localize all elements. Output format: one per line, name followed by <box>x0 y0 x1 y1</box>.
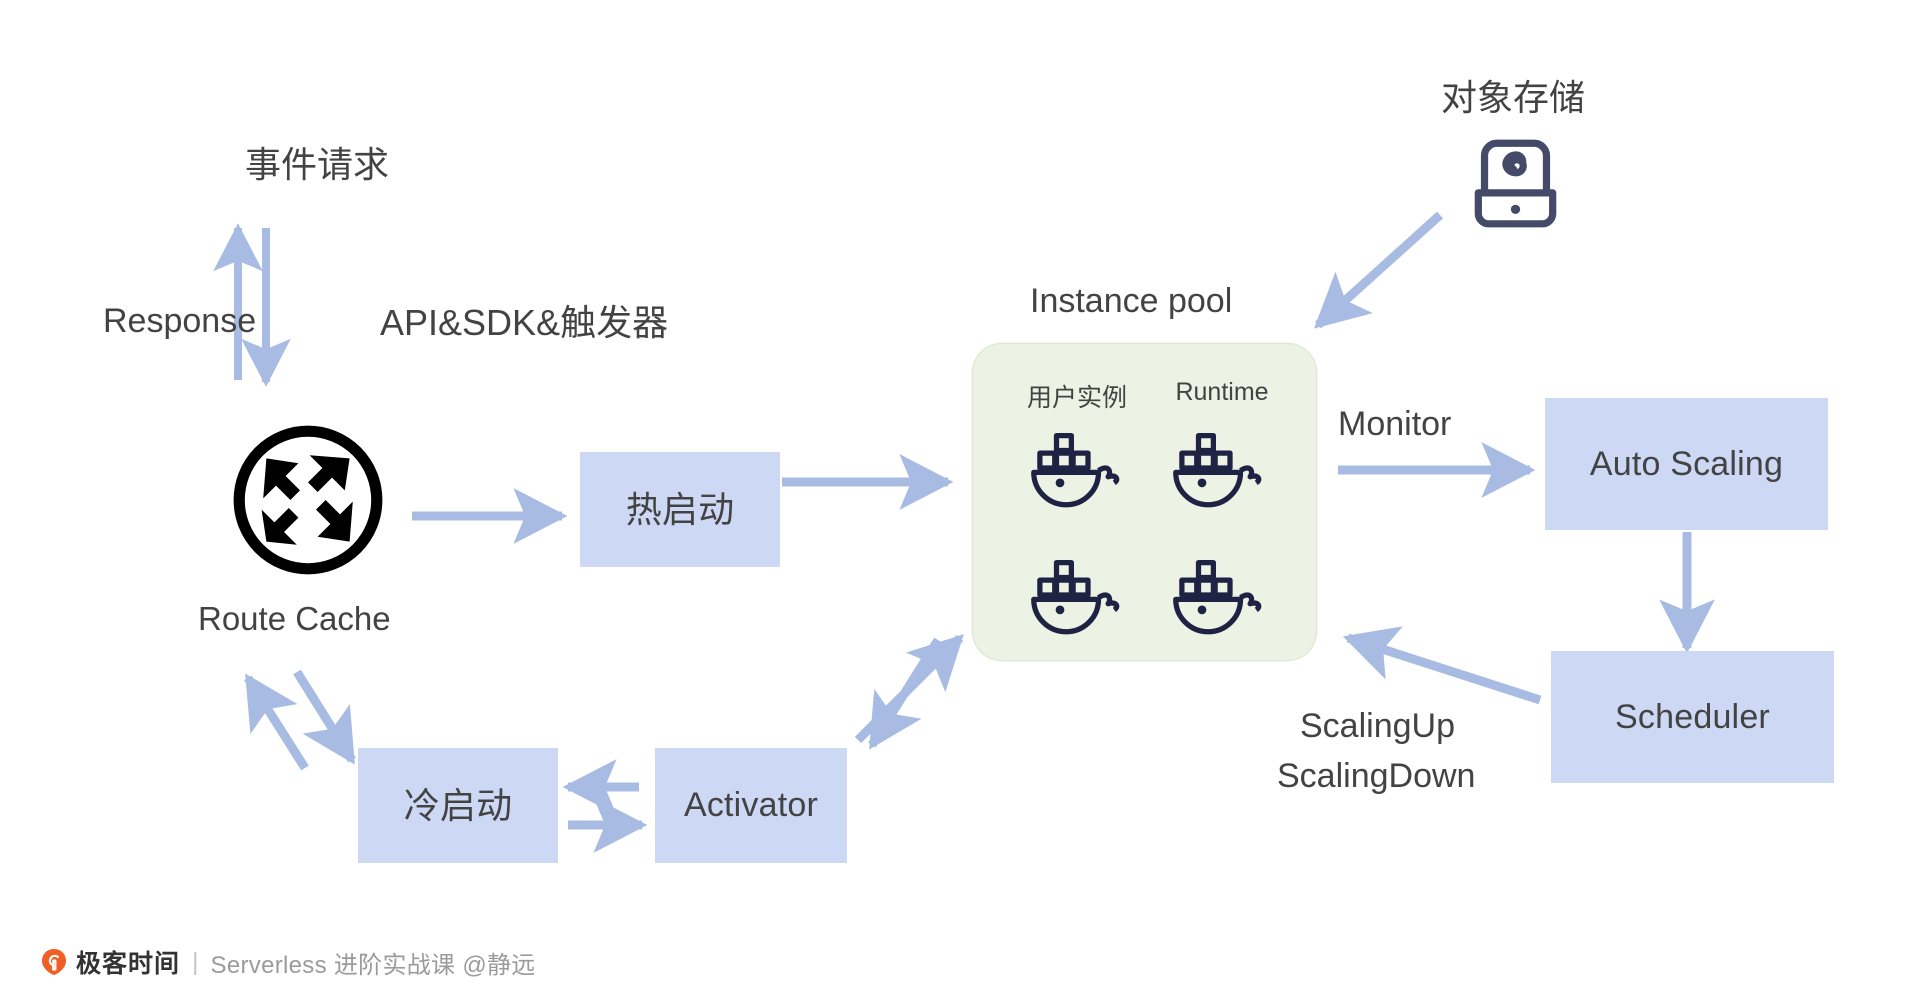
four-arrows-outward-circle-icon <box>228 420 388 580</box>
footer-course: Serverless 进阶实战课 @静远 <box>211 945 536 980</box>
activator-box[interactable]: Activator <box>655 748 847 863</box>
label-scaling-down: ScalingDown <box>1277 755 1475 798</box>
docker-whale-glyph <box>1025 428 1130 508</box>
label-monitor: Monitor <box>1338 403 1451 446</box>
route-cache-label: Route Cache <box>198 600 391 638</box>
arrow-pool-to-activator <box>872 640 938 745</box>
route-cache-icon <box>228 420 388 580</box>
auto-scaling-box[interactable]: Auto Scaling <box>1545 398 1828 530</box>
geekbang-logo-icon <box>40 948 68 976</box>
label-object-storage: 对象存储 <box>1441 75 1585 120</box>
warm-start-box[interactable]: 热启动 <box>580 452 780 567</box>
label-event-request: 事件请求 <box>245 142 389 187</box>
footer-watermark: 极客时间 | Serverless 进阶实战课 @静远 <box>40 944 536 980</box>
object-storage-drive-glyph <box>1463 135 1568 230</box>
instance-pool-column-label-0: 用户实例 <box>1017 378 1137 414</box>
arrow-coldstart-to-routecache <box>248 678 305 768</box>
docker-whale-glyph <box>1167 555 1272 635</box>
arrow-scheduler-to-pool <box>1348 638 1540 700</box>
geekbang-logo-glyph <box>40 948 68 976</box>
object-storage-icon <box>1463 135 1568 230</box>
instance-pool-column-label-1: Runtime <box>1162 378 1282 407</box>
arrow-activator-to-pool <box>858 638 960 740</box>
docker-whale-icon <box>1167 555 1272 635</box>
diagram-canvas: 事件请求 Response API&SDK&触发器 Route Cache 热启… <box>0 0 1920 1006</box>
label-scaling-up: ScalingUp <box>1300 705 1455 748</box>
docker-whale-icon <box>1167 428 1272 508</box>
footer-brand: 极客时间 <box>76 944 180 980</box>
docker-whale-icon <box>1025 428 1130 508</box>
label-api-sdk-trigger: API&SDK&触发器 <box>380 300 668 345</box>
scheduler-box[interactable]: Scheduler <box>1551 651 1834 783</box>
label-response: Response <box>103 300 256 343</box>
cold-start-box[interactable]: 冷启动 <box>358 748 558 863</box>
docker-whale-glyph <box>1025 555 1130 635</box>
arrow-routecache-to-coldstart <box>297 672 352 760</box>
arrow-objectstorage-to-pool <box>1318 215 1440 325</box>
docker-whale-glyph <box>1167 428 1272 508</box>
docker-whale-icon <box>1025 555 1130 635</box>
instance-pool-title: Instance pool <box>1030 282 1232 321</box>
footer-divider: | <box>192 948 199 977</box>
